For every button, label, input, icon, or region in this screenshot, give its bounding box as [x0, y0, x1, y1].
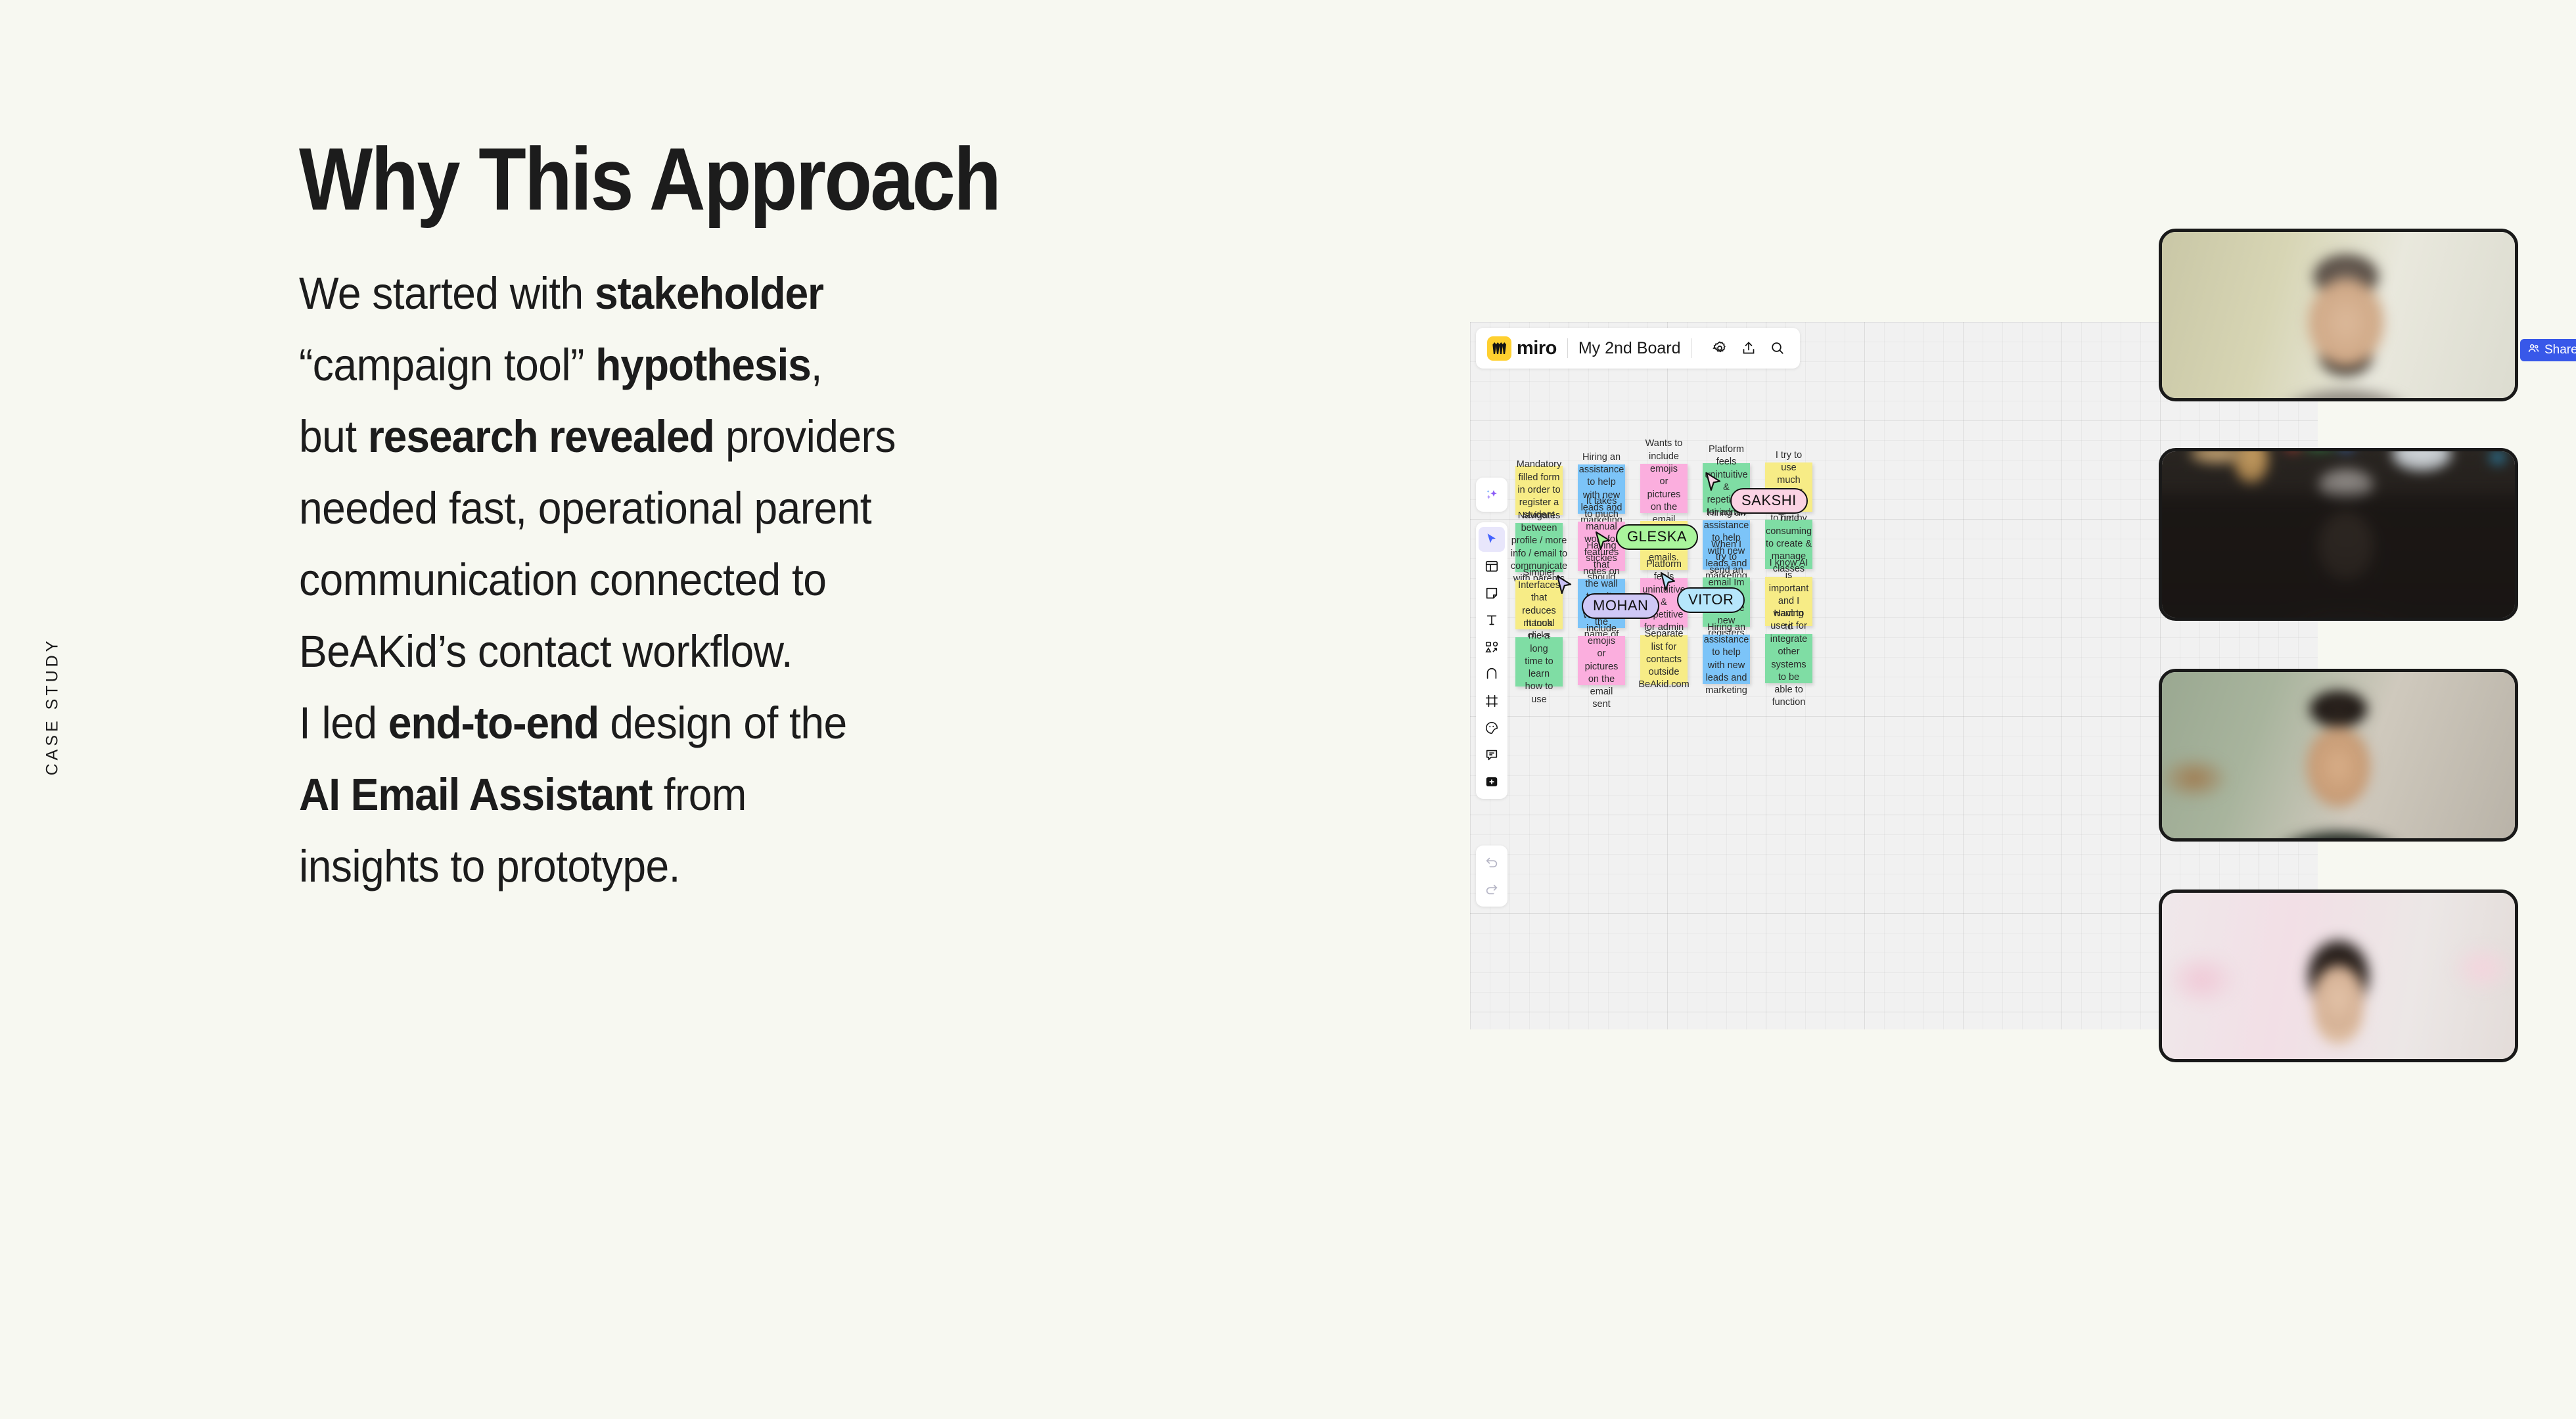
- text-icon[interactable]: [1479, 608, 1505, 633]
- sticky-note[interactable]: Wants to include emojis or pictures on t…: [1578, 636, 1625, 685]
- templates-icon[interactable]: [1479, 554, 1505, 579]
- sticky-note[interactable]: Having to integrate other systems to be …: [1765, 634, 1812, 683]
- sticky-note[interactable]: Hiring an assistance to help with new le…: [1703, 635, 1750, 684]
- body-copy-line: needed fast, operational parent: [299, 472, 1289, 544]
- collaborator-name-pill: VITOR: [1677, 587, 1745, 613]
- sticky-note[interactable]: Mandatory filled form in order to regist…: [1515, 466, 1563, 515]
- body-copy-line: insights to prototype.: [299, 830, 1289, 902]
- frame-icon[interactable]: [1479, 688, 1505, 713]
- case-study-rail: CASE STUDY: [39, 618, 66, 795]
- collaborator-cursor: [1595, 531, 1612, 554]
- collaborator-cursor: [1556, 575, 1573, 598]
- comment-icon[interactable]: [1479, 742, 1505, 767]
- share-label: Share: [2544, 343, 2576, 357]
- sticky-note-text: Separate list for contacts outside BeAki…: [1638, 628, 1689, 691]
- body-copy-line: AI Email Assistant from: [299, 759, 1289, 830]
- miro-logo-icon[interactable]: [1487, 336, 1511, 361]
- plus-more-icon[interactable]: [1479, 769, 1505, 794]
- video-feed-4: [2162, 893, 2515, 1059]
- gear-icon[interactable]: [1709, 337, 1731, 359]
- sticker-icon[interactable]: [1479, 715, 1505, 740]
- body-copy-line: I led end-to-end design of the: [299, 687, 1289, 759]
- toolbar-main-group: [1476, 522, 1507, 799]
- sticky-note[interactable]: Wants to include emojis or pictures on t…: [1640, 464, 1688, 513]
- ai-sparkle-icon[interactable]: [1479, 482, 1505, 507]
- share-button[interactable]: Share: [2520, 339, 2576, 361]
- pen-icon[interactable]: [1479, 662, 1505, 687]
- cursor-select-icon[interactable]: [1479, 527, 1505, 552]
- collaborator-cursor: [1660, 572, 1677, 595]
- body-copy-line: communication connected to: [299, 544, 1289, 616]
- video-tile-participant-4[interactable]: [2159, 890, 2518, 1062]
- board-name[interactable]: My 2nd Board: [1578, 339, 1681, 358]
- redo-icon[interactable]: [1479, 877, 1505, 902]
- sticky-note-text: Wants to include emojis or pictures on t…: [1582, 610, 1621, 711]
- video-feed-1: [2162, 232, 2515, 398]
- video-feed-2: [2162, 451, 2515, 618]
- people-icon: [2527, 342, 2540, 359]
- upload-icon[interactable]: [1737, 337, 1760, 359]
- board-header-bar: miro My 2nd Board: [1476, 328, 1800, 369]
- collaborator-cursor: [1705, 472, 1722, 495]
- header-divider-2: [1691, 338, 1691, 358]
- video-tile-participant-3[interactable]: [2159, 669, 2518, 842]
- copy-block: Why This Approach We started with stakeh…: [299, 135, 1364, 902]
- sticky-note[interactable]: It took me a long time to learn how to u…: [1515, 637, 1563, 687]
- body-copy: We started with stakeholder“campaign too…: [299, 258, 1289, 902]
- miro-wordmark: miro: [1517, 338, 1557, 359]
- body-copy-line: but research revealed providers: [299, 401, 1289, 472]
- sticky-note-text: Having to integrate other systems to be …: [1770, 608, 1808, 709]
- page-title: Why This Approach: [299, 135, 1236, 223]
- header-divider-1: [1567, 338, 1568, 358]
- search-icon[interactable]: [1766, 337, 1789, 359]
- toolbar-ai-group: [1476, 478, 1507, 512]
- case-study-label: CASE STUDY: [43, 637, 62, 775]
- video-feed-3: [2162, 672, 2515, 838]
- sticky-note-icon[interactable]: [1479, 581, 1505, 606]
- slide-canvas: CASE STUDY Why This Approach We started …: [0, 0, 2576, 1419]
- collaborator-name-pill: SAKSHI: [1730, 488, 1808, 514]
- video-tile-participant-1[interactable]: [2159, 229, 2518, 401]
- sticky-note[interactable]: Navigates between profile / more info / …: [1515, 523, 1563, 572]
- undo-icon[interactable]: [1479, 850, 1505, 875]
- toolbar-history-group: [1476, 845, 1507, 907]
- body-copy-line: BeAKid’s contact workflow.: [299, 616, 1289, 687]
- collaborator-name-pill: MOHAN: [1582, 593, 1659, 619]
- sticky-note[interactable]: Separate list for contacts outside BeAki…: [1640, 635, 1688, 685]
- body-copy-line: We started with stakeholder: [299, 258, 1289, 329]
- body-copy-line: “campaign tool” hypothesis,: [299, 329, 1289, 401]
- shapes-icon[interactable]: [1479, 635, 1505, 660]
- sticky-note-text: It took me a long time to learn how to u…: [1520, 618, 1558, 706]
- video-tile-participant-2[interactable]: [2159, 448, 2518, 621]
- sticky-note-text: Hiring an assistance to help with new le…: [1704, 621, 1749, 698]
- collaborator-name-pill: GLESKA: [1616, 524, 1698, 550]
